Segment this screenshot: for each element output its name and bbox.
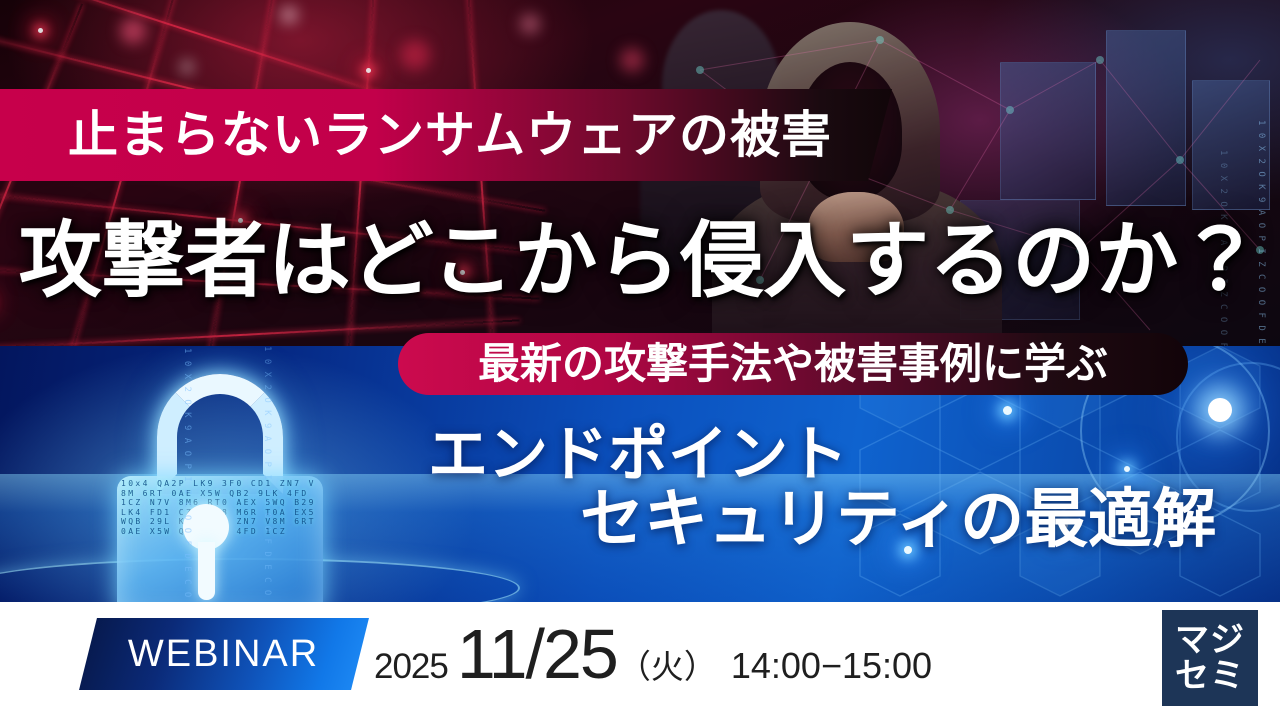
logo-line-2: セミ bbox=[1175, 659, 1245, 693]
webinar-banner: 1 0 X 2 O K 9 A O P I Z C O O F D E C O … bbox=[0, 0, 1280, 720]
webinar-badge: WEBINAR bbox=[79, 618, 369, 690]
kicker-text: 止まらないランサムウェアの被害 bbox=[0, 110, 832, 160]
logo-line-1: マジ bbox=[1175, 623, 1245, 657]
subtitle-pill: 最新の攻撃手法や被害事例に学ぶ bbox=[398, 333, 1188, 395]
event-day-of-week: （火） bbox=[618, 640, 717, 688]
headline: 攻撃者はどこから侵入するのか？ bbox=[0, 196, 1280, 324]
webinar-badge-label: WEBINAR bbox=[128, 633, 319, 676]
matrix-code-column: 1 0 X 2 O K 9 A O P I Z C O O F D E C O … bbox=[182, 348, 192, 468]
event-year: 2025 bbox=[374, 647, 448, 687]
majisemi-logo: マジ セミ bbox=[1162, 610, 1258, 706]
headline-text: 攻撃者はどこから侵入するのか？ bbox=[19, 219, 1262, 302]
event-month-day: 11/25 bbox=[457, 614, 617, 694]
event-time: 14:00−15:00 bbox=[731, 645, 932, 687]
kicker-band: 止まらないランサムウェアの被害 bbox=[0, 89, 892, 181]
matrix-code-column: 1 0 X 2 O K 9 A O P I Z C O O F D E C O … bbox=[262, 346, 272, 446]
subtitle-pill-text: 最新の攻撃手法や被害事例に学ぶ bbox=[478, 343, 1108, 385]
glow-node bbox=[1208, 398, 1232, 422]
subtitle-line-1: エンドポイント bbox=[428, 425, 848, 485]
padlock-icon: 10x4 QA2P LK9 3F0 CD1 ZN7 V8M 6RT 0AE X5… bbox=[105, 374, 335, 602]
footer-bar: WEBINAR 2025 11/25 （火） 14:00−15:00 bbox=[0, 602, 1280, 720]
glow-node bbox=[1003, 406, 1012, 415]
subtitle-line-2: セキュリティの最適解 bbox=[580, 488, 1216, 552]
event-datetime: 2025 11/25 （火） 14:00−15:00 bbox=[374, 614, 932, 694]
glow-node bbox=[1124, 466, 1130, 472]
